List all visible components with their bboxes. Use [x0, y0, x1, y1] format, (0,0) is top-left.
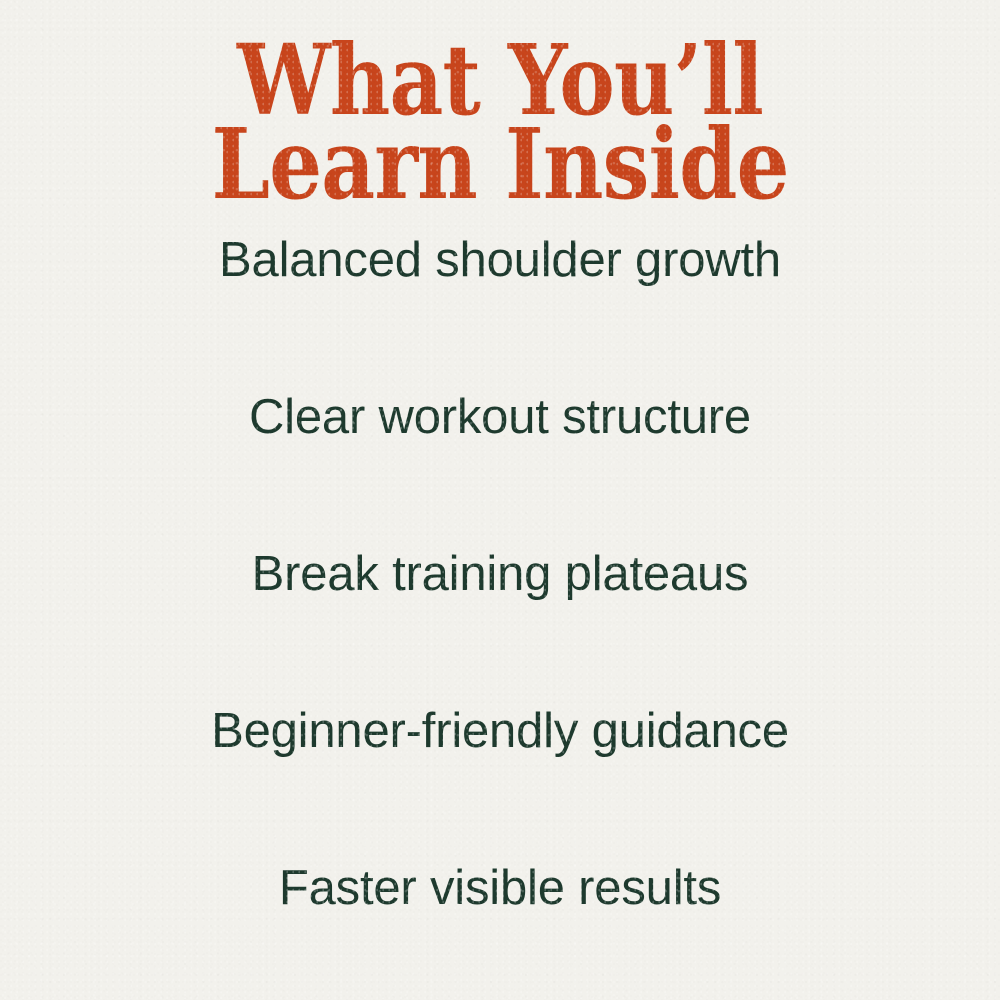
- page-title-line-2: Learn Inside: [70, 122, 930, 206]
- poster-canvas: What You’ll Learn Inside Balanced should…: [0, 0, 1000, 1000]
- page-title: What You’ll Learn Inside: [70, 38, 930, 207]
- benefit-item-4: Beginner-friendly guidance: [0, 707, 1000, 864]
- benefit-item-2: Clear workout structure: [0, 393, 1000, 550]
- benefits-list: Balanced shoulder growth Clear workout s…: [0, 236, 1000, 1000]
- benefit-item-1: Balanced shoulder growth: [0, 236, 1000, 393]
- benefit-item-3: Break training plateaus: [0, 550, 1000, 707]
- benefit-item-5: Faster visible results: [0, 864, 1000, 1000]
